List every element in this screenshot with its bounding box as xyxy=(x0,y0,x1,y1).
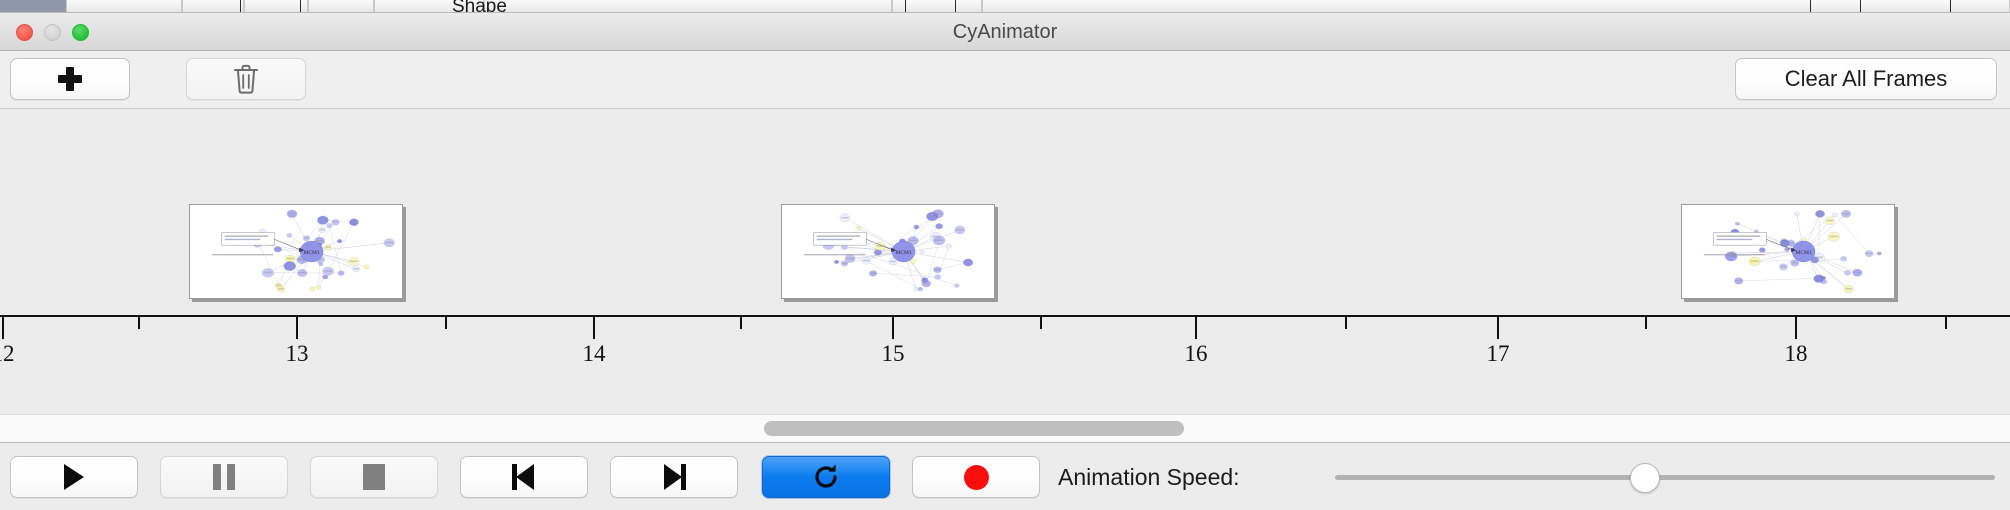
frame-thumbnail-3[interactable]: MCM1 xyxy=(1681,204,1895,299)
trash-icon xyxy=(233,64,259,94)
record-icon xyxy=(964,465,989,490)
frame-toolbar: Clear All Frames xyxy=(0,51,2010,109)
background-window-segment xyxy=(244,0,308,13)
timeline-panel[interactable]: MCM1MCM1MCM1 12131415161718 Seconds xyxy=(0,109,2010,414)
skip-to-start-button[interactable] xyxy=(460,456,588,498)
play-icon xyxy=(64,464,84,490)
skip-to-end-button[interactable] xyxy=(610,456,738,498)
ruler-tick-major xyxy=(593,317,595,339)
add-frame-button[interactable] xyxy=(10,58,130,100)
ruler-tick-label: 18 xyxy=(1785,341,1808,367)
ruler-tick-label: 14 xyxy=(583,341,606,367)
ruler-tick-label: 17 xyxy=(1487,341,1510,367)
ruler-tick-label: 16 xyxy=(1185,341,1208,367)
ruler-tick-minor xyxy=(1945,317,1947,329)
ruler-tick-major xyxy=(1795,317,1797,339)
svg-text:MCM1: MCM1 xyxy=(1795,250,1812,256)
svg-text:MCM1: MCM1 xyxy=(303,250,320,256)
background-window-segment xyxy=(982,0,2010,13)
ruler-tick-major xyxy=(892,317,894,339)
ruler-tick-label: 13 xyxy=(286,341,309,367)
background-window-tick xyxy=(1950,0,1951,13)
slider-thumb[interactable] xyxy=(1630,463,1660,493)
ruler-tick-major xyxy=(1497,317,1499,339)
ruler-tick-minor xyxy=(1645,317,1647,329)
timeline-ruler[interactable]: 12131415161718 xyxy=(0,305,2010,365)
scrollbar-track[interactable] xyxy=(4,421,2006,436)
background-window-segment xyxy=(182,0,244,13)
frame-track[interactable]: MCM1MCM1MCM1 xyxy=(0,109,2010,305)
stop-button[interactable] xyxy=(310,456,438,498)
background-window-segment xyxy=(308,0,374,13)
traffic-lights xyxy=(16,24,89,41)
zoom-button[interactable] xyxy=(72,24,89,41)
ruler-tick-major xyxy=(296,317,298,339)
frame-thumbnail-1[interactable]: MCM1 xyxy=(189,204,403,299)
background-window-label: Shape xyxy=(452,0,507,13)
frame-thumbnail-2[interactable]: MCM1 xyxy=(781,204,995,299)
ruler-tick-major xyxy=(1195,317,1197,339)
ruler-tick-label: 12 xyxy=(0,341,15,367)
background-window-segment xyxy=(0,0,66,13)
loop-icon xyxy=(811,462,841,492)
clear-all-frames-button[interactable]: Clear All Frames xyxy=(1735,58,1997,100)
playback-control-bar: Animation Speed: xyxy=(0,442,2010,510)
close-button[interactable] xyxy=(16,24,33,41)
ruler-tick-minor xyxy=(445,317,447,329)
delete-frame-button[interactable] xyxy=(186,58,306,100)
plus-icon xyxy=(57,66,83,92)
pause-button[interactable] xyxy=(160,456,288,498)
title-bar: CyAnimator xyxy=(0,13,2010,51)
background-window-segment xyxy=(484,0,892,13)
animation-speed-slider[interactable] xyxy=(1335,456,1995,498)
cyanimator-window: Shape CyAnimator Clear All Frames M xyxy=(0,0,2010,510)
background-window-strip: Shape xyxy=(0,0,2010,13)
frame-network-image: MCM1 xyxy=(784,207,992,296)
page-title: CyAnimator xyxy=(0,13,2010,51)
ruler-tick-minor xyxy=(1345,317,1347,329)
frame-network-image: MCM1 xyxy=(192,207,400,296)
play-button[interactable] xyxy=(10,456,138,498)
background-window-tick xyxy=(905,0,906,13)
background-window-tick xyxy=(1860,0,1861,13)
ruler-tick-minor xyxy=(1040,317,1042,329)
ruler-tick-label: 15 xyxy=(882,341,905,367)
skip-forward-icon xyxy=(661,464,687,490)
ruler-tick-major xyxy=(2,317,4,339)
background-window-tick xyxy=(300,0,301,13)
background-window-tick xyxy=(955,0,956,13)
minimize-button[interactable] xyxy=(44,24,61,41)
skip-back-icon xyxy=(511,464,537,490)
ruler-tick-minor xyxy=(740,317,742,329)
background-window-tick xyxy=(240,0,241,13)
animation-speed-label: Animation Speed: xyxy=(1058,456,1240,498)
slider-track[interactable] xyxy=(1335,475,1995,480)
background-window-tick xyxy=(1810,0,1811,13)
ruler-tick-minor xyxy=(138,317,140,329)
pause-icon xyxy=(213,464,235,490)
clear-all-frames-label: Clear All Frames xyxy=(1785,66,1948,92)
loop-button[interactable] xyxy=(762,456,890,498)
record-button[interactable] xyxy=(912,456,1040,498)
scrollbar-thumb[interactable] xyxy=(764,421,1184,436)
stop-icon xyxy=(363,464,385,490)
ruler-baseline xyxy=(0,315,2010,317)
background-window-segment xyxy=(66,0,182,13)
timeline-scrollbar[interactable] xyxy=(0,414,2010,442)
frame-network-image: MCM1 xyxy=(1684,207,1892,296)
svg-text:MCM1: MCM1 xyxy=(895,250,912,256)
